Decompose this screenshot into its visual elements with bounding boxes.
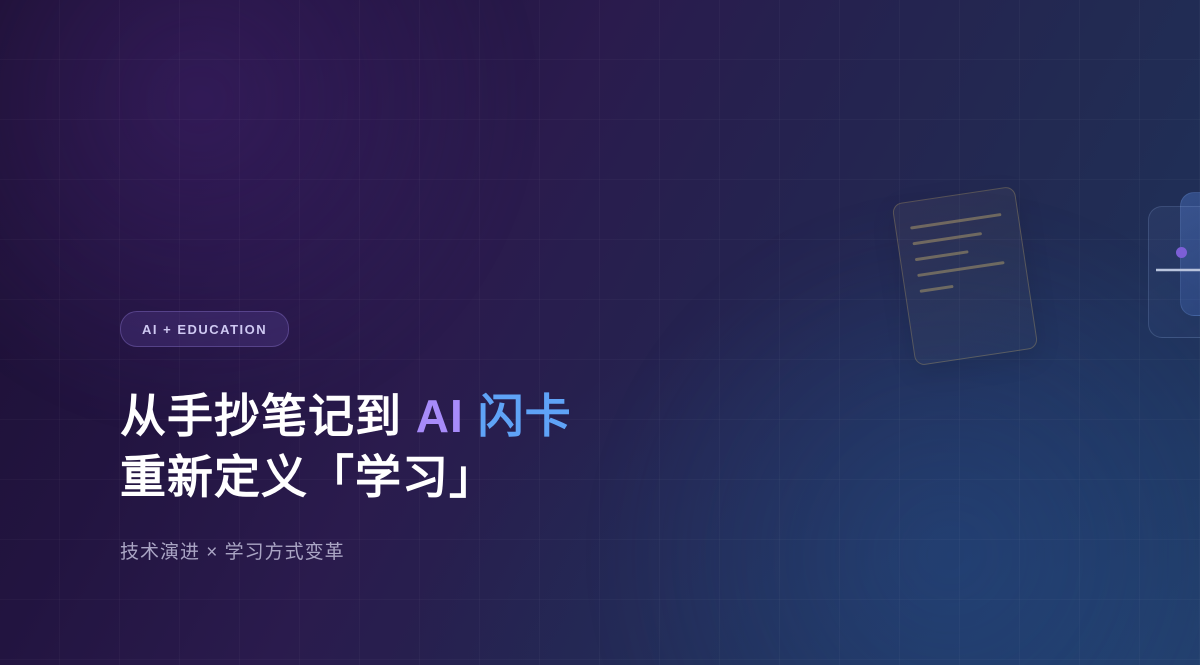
hero-content: AI + EDUCATION 从手抄笔记到 AI 闪卡 重新定义「学习」 技术演… bbox=[120, 311, 820, 564]
bullet-dot-icon bbox=[1176, 247, 1187, 258]
note-line bbox=[915, 250, 969, 261]
flashcard-illustration bbox=[1148, 206, 1200, 338]
note-line bbox=[917, 261, 1004, 277]
title-accent-ai: AI bbox=[416, 390, 464, 442]
title-accent-flashcard: 闪卡 bbox=[478, 390, 572, 442]
note-line bbox=[912, 232, 982, 245]
category-badge-label: AI + EDUCATION bbox=[142, 322, 267, 337]
handwritten-note-icon bbox=[892, 186, 1039, 367]
note-line bbox=[920, 285, 954, 293]
title-line-1: 从手抄笔记到 AI 闪卡 bbox=[120, 386, 820, 447]
arrow-right-icon bbox=[1156, 264, 1200, 276]
page-subtitle: 技术演进 × 学习方式变革 bbox=[120, 537, 820, 564]
title-space bbox=[464, 390, 478, 442]
title-text-primary: 从手抄笔记到 bbox=[120, 390, 416, 442]
hero-banner: AI + EDUCATION 从手抄笔记到 AI 闪卡 重新定义「学习」 技术演… bbox=[0, 0, 1200, 665]
page-title: 从手抄笔记到 AI 闪卡 重新定义「学习」 bbox=[120, 386, 820, 507]
category-badge: AI + EDUCATION bbox=[120, 311, 289, 347]
title-line-2: 重新定义「学习」 bbox=[120, 447, 820, 508]
note-line bbox=[910, 213, 1001, 230]
